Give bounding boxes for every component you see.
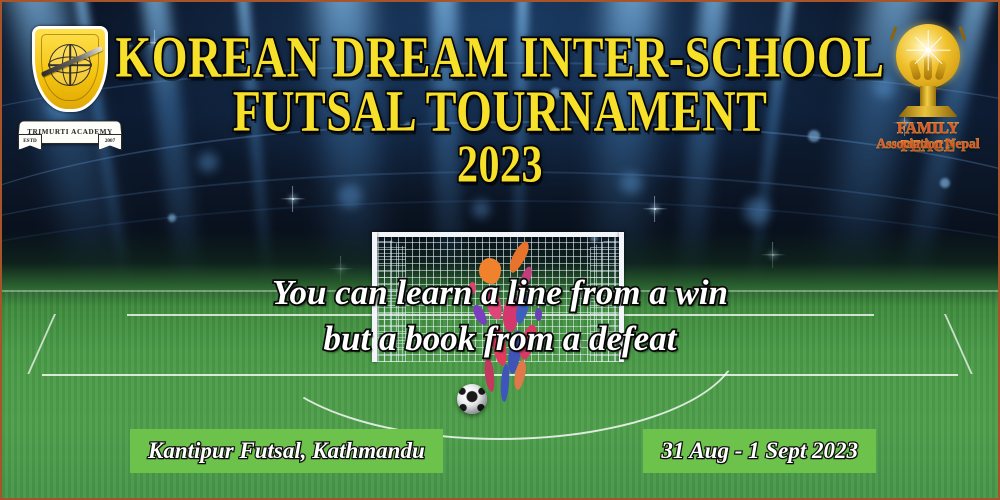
trophy-horn-right <box>959 26 967 41</box>
dates-label: 31 Aug - 1 Sept 2023 <box>661 438 858 464</box>
soccer-ball-icon <box>457 384 487 414</box>
estd-year: 2007 <box>105 138 115 144</box>
sparkle-icon <box>654 208 656 210</box>
trophy-stem <box>920 86 936 108</box>
goal-crossbar <box>372 232 624 237</box>
venue-box: Kantipur Futsal, Kathmandu <box>130 429 443 473</box>
shield-icon <box>32 26 108 112</box>
splatter-shape <box>483 358 496 393</box>
trimurti-academy-logo: TRIMURTI ACADEMY ESTD 2007 <box>18 26 122 150</box>
family-peace-association-logo: FAMILY PEACE Association Nepal <box>872 20 984 152</box>
slogan-block: You can learn a line from a win but a bo… <box>2 270 998 361</box>
title-line-2: FUTSAL TOURNAMENT <box>2 84 998 140</box>
family-peace-line-2: Association Nepal <box>872 136 984 152</box>
title-year: 2023 <box>2 140 998 191</box>
star-flare-icon <box>926 48 931 53</box>
title-line-1: KOREAN DREAM INTER-SCHOOL <box>2 30 998 86</box>
bokeh-dot <box>472 200 490 218</box>
estd-label: ESTD <box>23 138 37 144</box>
sparkle-icon <box>292 198 294 200</box>
trophy-horn-left <box>890 26 898 41</box>
splatter-shape <box>500 364 511 402</box>
dates-box: 31 Aug - 1 Sept 2023 <box>643 429 876 473</box>
title-block: KOREAN DREAM INTER-SCHOOL FUTSAL TOURNAM… <box>2 30 998 181</box>
slogan-line-1: You can learn a line from a win <box>2 270 998 316</box>
ribbon-tail-left: ESTD <box>18 134 42 150</box>
trophy-base <box>898 106 958 117</box>
bokeh-dot <box>168 214 176 222</box>
bokeh-dot <box>744 198 770 224</box>
tournament-poster: KOREAN DREAM INTER-SCHOOL FUTSAL TOURNAM… <box>0 0 1000 500</box>
slogan-line-2: but a book from a defeat <box>2 316 998 362</box>
venue-label: Kantipur Futsal, Kathmandu <box>148 438 425 464</box>
ribbon-tail-right: 2007 <box>98 134 122 150</box>
